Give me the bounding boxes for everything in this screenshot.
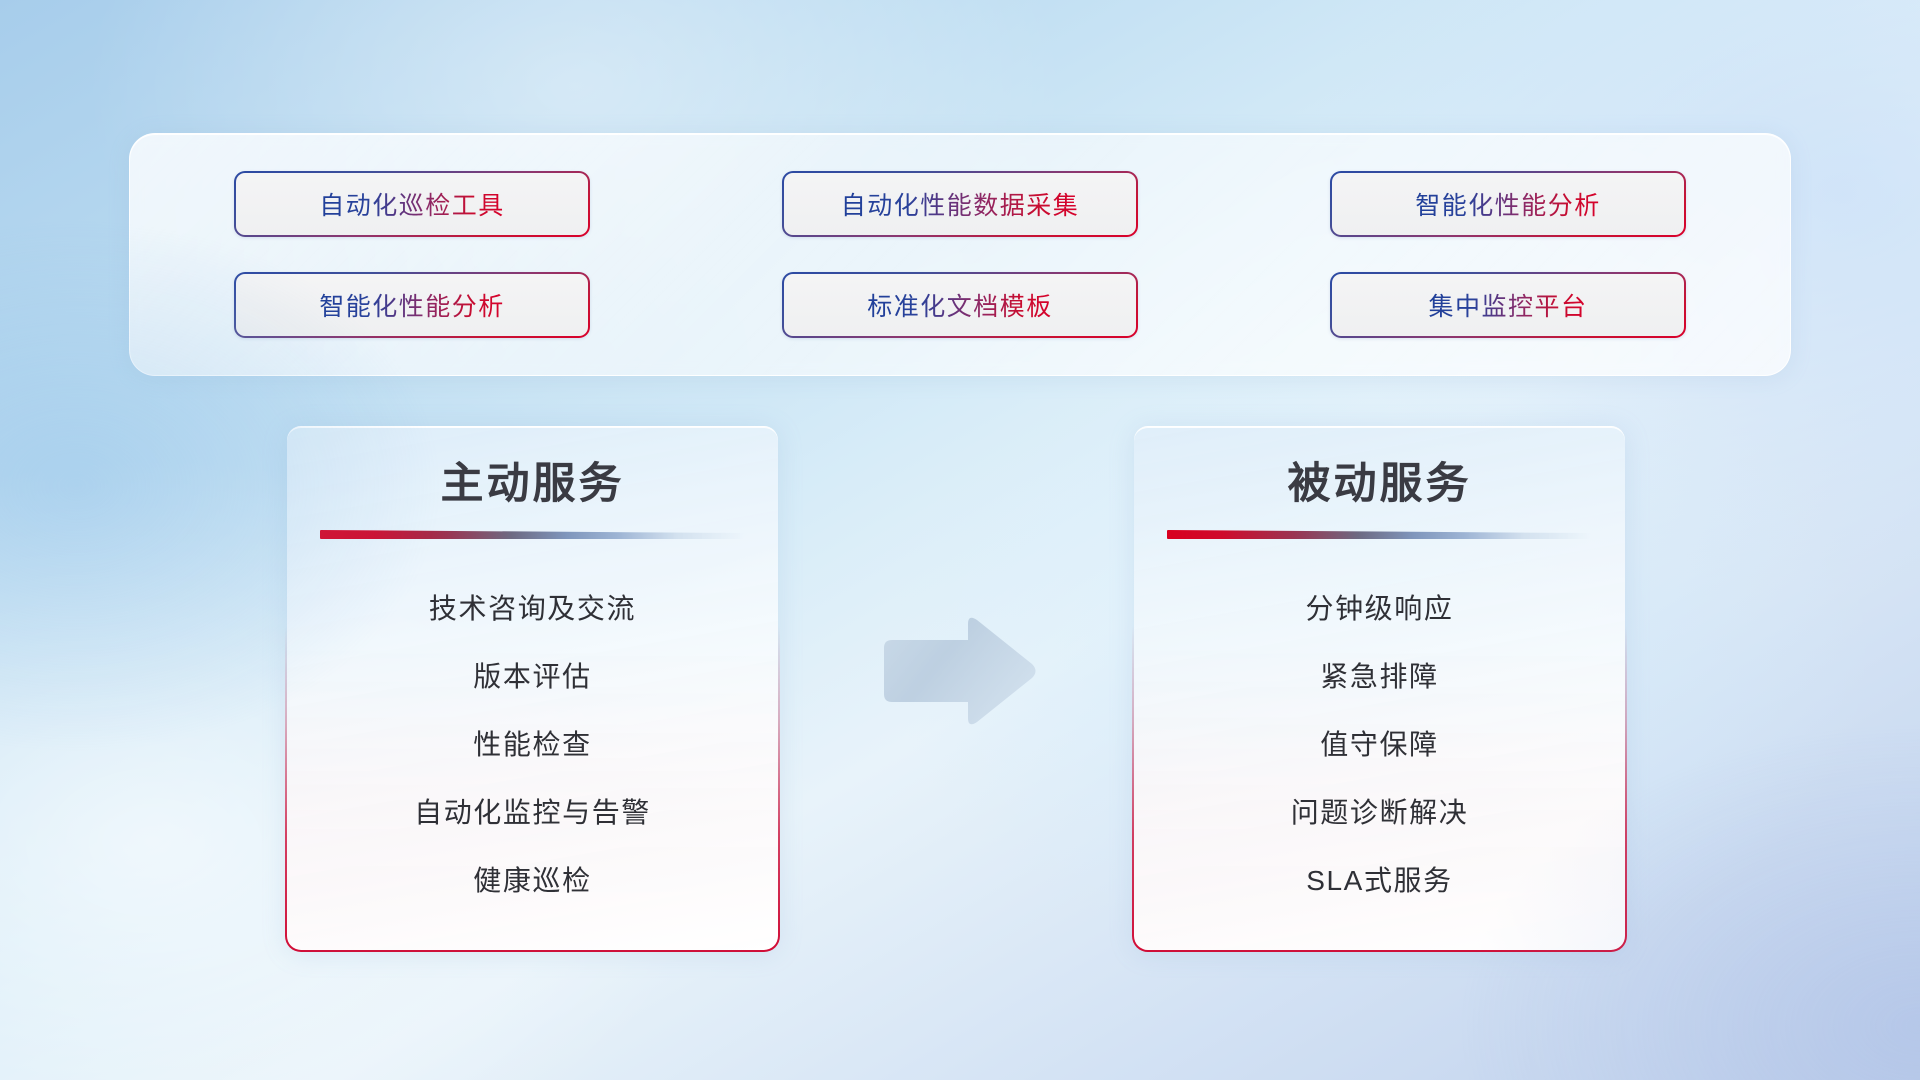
service-list-item[interactable]: 健康巡检 (473, 847, 591, 915)
capability-pill[interactable]: 智能化性能分析 (234, 272, 590, 338)
capability-pill-surface: 智能化性能分析 (236, 274, 588, 336)
slide-canvas: 自动化巡检工具 自动化性能数据采集 智能化性能分析 智能化性能分析 (0, 0, 1920, 1080)
service-card-title: 被动服务 (1288, 463, 1472, 506)
service-list-item[interactable]: 问题诊断解决 (1291, 779, 1469, 847)
arrow-right-icon (872, 612, 1040, 730)
capability-pill-label: 自动化性能数据采集 (841, 186, 1080, 222)
service-card-surface: 主动服务 技术咨询及交流 版本评估 性能检查 自动化监控与告警 健康巡检 (287, 426, 778, 950)
service-list-item[interactable]: 紧急排障 (1320, 643, 1438, 711)
capability-tags-panel: 自动化巡检工具 自动化性能数据采集 智能化性能分析 智能化性能分析 (129, 133, 1791, 376)
capability-pill-surface: 自动化性能数据采集 (784, 173, 1136, 235)
capability-pill-label: 智能化性能分析 (1415, 186, 1601, 222)
service-list-item[interactable]: 性能检查 (473, 711, 591, 779)
capability-pill-surface: 集中监控平台 (1332, 274, 1684, 336)
service-list-item[interactable]: 值守保障 (1320, 711, 1438, 779)
service-list-item[interactable]: 版本评估 (473, 643, 591, 711)
service-card-reactive[interactable]: 被动服务 分钟级响应 紧急排障 值守保障 问题诊断解决 SLA式服务 (1132, 424, 1627, 952)
service-list-item[interactable]: 自动化监控与告警 (414, 779, 651, 847)
service-list-item[interactable]: 分钟级响应 (1305, 575, 1453, 643)
capability-pill-surface: 自动化巡检工具 (236, 173, 588, 235)
capability-pill-label: 标准化文档模板 (867, 287, 1053, 323)
service-item-list: 技术咨询及交流 版本评估 性能检查 自动化监控与告警 健康巡检 (317, 575, 748, 915)
service-card-surface: 被动服务 分钟级响应 紧急排障 值守保障 问题诊断解决 SLA式服务 (1134, 426, 1625, 950)
title-divider-bar (1167, 530, 1592, 539)
capability-pill[interactable]: 标准化文档模板 (782, 272, 1138, 338)
capability-pill[interactable]: 自动化性能数据采集 (782, 171, 1138, 237)
service-list-item[interactable]: SLA式服务 (1306, 847, 1453, 915)
capability-pill[interactable]: 智能化性能分析 (1330, 171, 1686, 237)
capability-pill[interactable]: 集中监控平台 (1330, 272, 1686, 338)
service-card-title: 主动服务 (441, 463, 625, 506)
capability-pill-grid: 自动化巡检工具 自动化性能数据采集 智能化性能分析 智能化性能分析 (234, 171, 1686, 338)
capability-pill-label: 集中监控平台 (1428, 287, 1587, 323)
service-item-list: 分钟级响应 紧急排障 值守保障 问题诊断解决 SLA式服务 (1164, 575, 1595, 915)
capability-pill-surface: 智能化性能分析 (1332, 173, 1684, 235)
service-card-proactive[interactable]: 主动服务 技术咨询及交流 版本评估 性能检查 自动化监控与告警 健康巡检 (285, 424, 780, 952)
capability-pill-label: 自动化巡检工具 (319, 186, 505, 222)
capability-pill[interactable]: 自动化巡检工具 (234, 171, 590, 237)
title-divider-bar (320, 530, 745, 539)
capability-pill-label: 智能化性能分析 (319, 287, 505, 323)
service-list-item[interactable]: 技术咨询及交流 (429, 575, 636, 643)
capability-pill-surface: 标准化文档模板 (784, 274, 1136, 336)
